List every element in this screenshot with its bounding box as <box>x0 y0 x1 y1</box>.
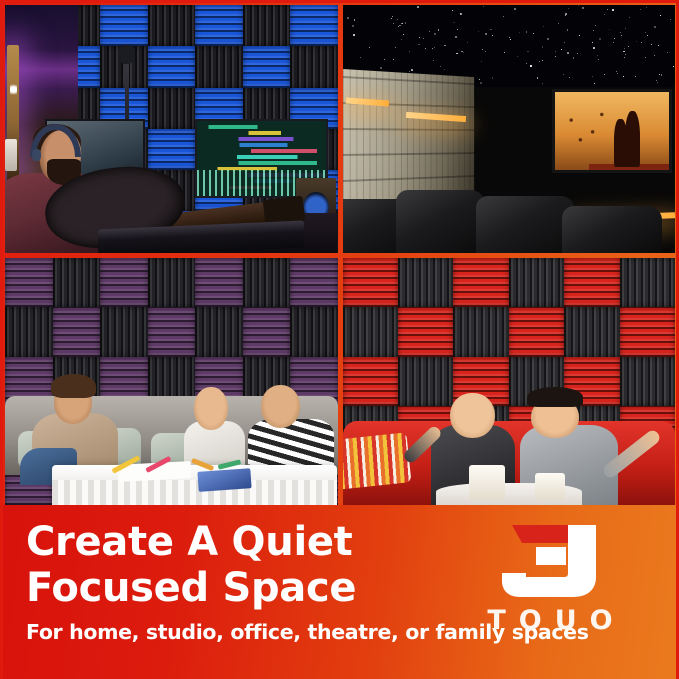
star <box>360 57 361 58</box>
star <box>568 8 570 10</box>
star <box>659 74 660 75</box>
star <box>569 77 570 78</box>
coffee-table <box>52 465 338 505</box>
star <box>403 34 404 35</box>
man-hair <box>527 387 583 408</box>
star <box>432 48 433 49</box>
recliner-seat <box>562 206 662 253</box>
star <box>384 59 385 60</box>
star <box>595 25 596 26</box>
star <box>530 65 531 66</box>
star <box>425 48 426 49</box>
star <box>409 51 410 52</box>
star <box>660 15 661 16</box>
photo-music-studio: Bearded musician wearing headphones play… <box>5 5 338 253</box>
photo-home-theatre: Dark cinema room with beige fabric acous… <box>343 5 676 253</box>
star <box>604 14 605 15</box>
star <box>594 83 595 84</box>
star <box>527 51 529 53</box>
star <box>563 74 564 75</box>
foam-tile <box>509 307 564 357</box>
star <box>444 45 446 47</box>
daw-track <box>197 149 326 153</box>
star <box>517 56 518 57</box>
star <box>485 51 486 52</box>
star <box>492 77 494 79</box>
star <box>399 25 400 26</box>
star <box>577 53 578 54</box>
star <box>592 42 593 43</box>
star <box>625 54 626 55</box>
foam-tile <box>5 307 53 357</box>
brand-wordmark: TOUO <box>474 605 625 636</box>
product-poster: Bearded musician wearing headphones play… <box>0 0 679 679</box>
striped-pillow <box>343 432 412 489</box>
star <box>565 13 567 15</box>
foam-tile <box>53 307 101 357</box>
star <box>645 32 646 33</box>
star <box>419 37 420 38</box>
foam-tile <box>290 5 338 46</box>
star <box>654 55 655 56</box>
star <box>483 6 484 7</box>
star <box>418 44 419 45</box>
star <box>423 38 424 39</box>
foam-tile <box>148 258 196 308</box>
star <box>482 49 483 50</box>
star <box>391 18 393 20</box>
star <box>417 6 419 8</box>
star <box>607 9 608 10</box>
star <box>670 19 671 20</box>
star <box>558 23 559 24</box>
star <box>640 9 641 10</box>
foam-tile <box>5 258 53 308</box>
star <box>433 60 435 62</box>
foam-tile <box>343 357 398 407</box>
mug <box>535 473 565 500</box>
foam-tile <box>453 307 508 357</box>
foam-tile <box>100 258 148 308</box>
star <box>542 83 543 84</box>
star <box>411 69 413 71</box>
foam-tile <box>195 258 243 308</box>
star <box>401 23 402 24</box>
foam-tile <box>509 258 564 308</box>
star <box>395 47 396 48</box>
daw-track <box>197 125 326 129</box>
star <box>519 32 520 33</box>
star <box>479 79 480 80</box>
foam-tile <box>195 5 243 46</box>
star <box>636 41 637 42</box>
star <box>353 34 355 36</box>
star <box>456 53 457 54</box>
recliner-seat <box>476 196 576 252</box>
star <box>565 15 567 17</box>
foam-tile <box>195 307 243 357</box>
star <box>647 35 648 36</box>
daw-track <box>197 143 326 147</box>
foam-tile <box>290 307 338 357</box>
star <box>579 35 580 36</box>
star <box>661 74 663 76</box>
star <box>444 69 445 70</box>
star <box>598 59 599 60</box>
star <box>478 31 479 32</box>
star <box>620 32 621 33</box>
foam-tile <box>398 258 453 308</box>
star <box>429 31 430 32</box>
star <box>352 25 354 27</box>
woman-head <box>450 393 495 438</box>
star <box>533 33 535 35</box>
microphone-icon <box>118 45 135 65</box>
foam-tile <box>564 307 619 357</box>
star <box>542 60 543 61</box>
star <box>547 38 549 40</box>
star <box>616 71 617 72</box>
father-hair <box>51 374 96 398</box>
mother-head <box>261 385 300 428</box>
star <box>612 9 614 11</box>
touo-j-logo-icon <box>492 521 608 599</box>
star <box>593 30 594 31</box>
star <box>673 66 674 67</box>
star <box>624 57 625 58</box>
star <box>537 77 538 78</box>
star <box>629 17 630 18</box>
star <box>434 33 436 35</box>
star <box>646 7 647 8</box>
star <box>657 82 658 83</box>
star <box>573 57 574 58</box>
star <box>614 38 615 39</box>
star <box>481 61 482 62</box>
theatre-seating <box>343 173 676 252</box>
star <box>658 45 659 46</box>
star <box>485 33 486 34</box>
foam-tile <box>564 258 619 308</box>
star <box>453 22 455 24</box>
star <box>667 52 668 53</box>
star <box>542 46 543 47</box>
foam-tile <box>453 258 508 308</box>
foam-tile <box>148 5 196 46</box>
star <box>380 67 382 69</box>
star <box>393 59 394 60</box>
star <box>564 42 565 43</box>
star <box>599 38 600 39</box>
star <box>492 35 493 36</box>
star <box>490 29 491 30</box>
daw-track <box>197 131 326 135</box>
daughter-head <box>194 387 228 430</box>
star <box>593 47 595 49</box>
star <box>628 46 629 47</box>
foam-tile <box>290 46 338 87</box>
foam-tile <box>195 46 243 87</box>
foam-tile <box>243 307 291 357</box>
photo-couple-lounge: Smiling couple on a red sofa holding mug… <box>343 258 676 506</box>
photo-family-living-room: Father, daughter and mother drawing toge… <box>5 258 338 506</box>
headline-line-1: Create A Quiet <box>26 519 353 565</box>
headline: Create A Quiet Focused Space <box>26 519 496 611</box>
star <box>393 23 394 24</box>
foam-tile <box>343 307 398 357</box>
star <box>623 76 624 77</box>
star <box>510 39 511 40</box>
star <box>467 42 468 43</box>
star <box>398 26 399 27</box>
star <box>641 42 642 43</box>
brand-lockup: TOUO <box>457 521 643 649</box>
star <box>625 28 626 29</box>
star <box>656 80 657 81</box>
foam-tile <box>243 5 291 46</box>
star <box>555 51 556 52</box>
star <box>397 19 398 20</box>
star <box>526 63 527 64</box>
foam-tile <box>100 307 148 357</box>
foam-tile <box>620 307 675 357</box>
star <box>438 29 440 31</box>
foam-tile <box>148 46 196 87</box>
star <box>624 48 625 49</box>
star <box>452 10 453 11</box>
mug <box>469 465 506 500</box>
foam-tile <box>290 258 338 308</box>
book <box>197 469 251 492</box>
star <box>617 73 618 74</box>
star <box>613 42 614 43</box>
star <box>592 76 593 77</box>
foam-tile <box>398 307 453 357</box>
projection-screen <box>552 89 672 173</box>
star <box>623 51 624 52</box>
star <box>434 47 436 49</box>
foam-tile <box>620 258 675 308</box>
star <box>651 44 652 45</box>
star <box>480 82 482 84</box>
star <box>455 36 457 38</box>
star <box>503 16 504 17</box>
star <box>526 31 527 32</box>
star <box>347 17 349 19</box>
photo-collage: Bearded musician wearing headphones play… <box>0 0 679 508</box>
foam-tile <box>243 46 291 87</box>
star <box>401 39 402 40</box>
marketing-banner: Create A Quiet Focused Space For home, s… <box>0 505 679 679</box>
foam-tile <box>243 258 291 308</box>
screen-dancer <box>625 111 640 167</box>
star <box>578 5 579 6</box>
star <box>567 52 569 54</box>
foam-tile <box>53 258 101 308</box>
foam-tile <box>343 258 398 308</box>
star <box>609 29 610 30</box>
star <box>561 49 562 50</box>
star <box>504 52 505 53</box>
star <box>539 61 540 62</box>
star <box>509 37 510 38</box>
star <box>457 29 458 30</box>
star <box>567 29 568 30</box>
foam-tile <box>148 307 196 357</box>
star <box>354 19 356 21</box>
daw-track <box>197 155 326 159</box>
star <box>582 7 583 8</box>
daw-track <box>197 137 326 141</box>
star <box>409 71 410 72</box>
star <box>654 26 656 28</box>
star <box>461 51 463 53</box>
star <box>621 35 622 36</box>
screen-particles <box>561 106 612 153</box>
recliner-seat <box>396 190 486 253</box>
star <box>405 22 407 24</box>
daw-track <box>197 161 326 165</box>
star <box>555 56 556 57</box>
star <box>514 8 515 9</box>
bulb-lights <box>10 82 17 97</box>
foam-tile <box>100 5 148 46</box>
star <box>543 26 544 27</box>
star <box>463 52 464 53</box>
headline-line-2: Focused Space <box>26 565 496 611</box>
